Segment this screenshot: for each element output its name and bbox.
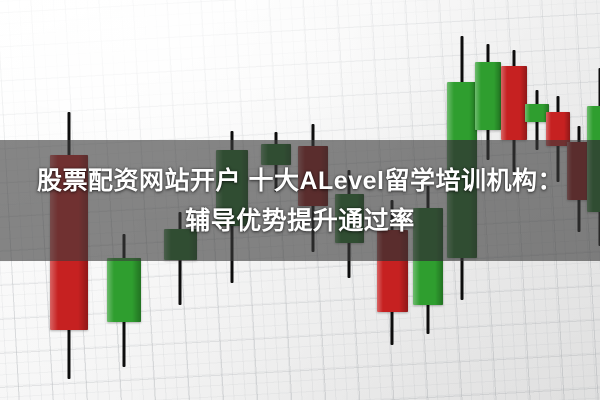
candle-body-bullish <box>107 258 141 322</box>
candle-body-bullish <box>475 62 501 130</box>
candlestick-banner: 股票配资网站开户 十大ALevel留学培训机构： 辅导优势提升通过率 <box>0 0 600 400</box>
title-overlay-band <box>0 140 600 261</box>
candle-body-bearish <box>501 66 527 140</box>
